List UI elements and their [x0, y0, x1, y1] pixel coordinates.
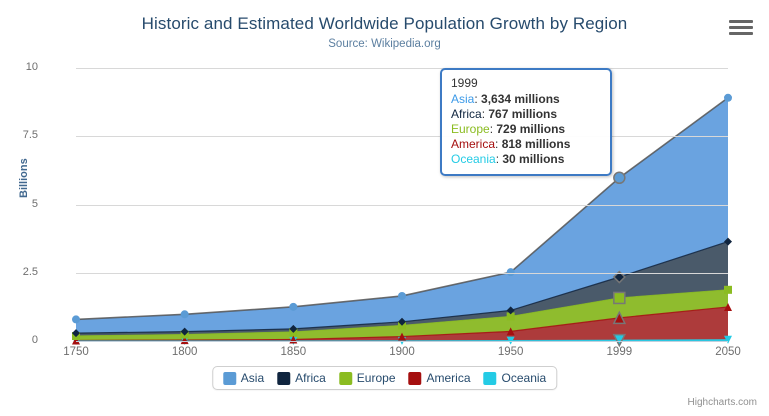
legend-item-asia[interactable]: Asia: [223, 371, 264, 385]
legend-swatch-icon: [484, 372, 497, 385]
chart-title: Historic and Estimated Worldwide Populat…: [0, 14, 769, 34]
tooltip-series-name: Africa: [451, 107, 482, 121]
gridline: [76, 273, 728, 274]
gridline: [76, 68, 728, 69]
tooltip-row: America: 818 millions: [451, 137, 601, 152]
legend-swatch-icon: [277, 372, 290, 385]
legend-label: America: [427, 371, 471, 385]
tooltip-series-name: America: [451, 137, 495, 151]
data-point-asia[interactable]: [289, 303, 297, 311]
data-point-asia[interactable]: [72, 315, 80, 323]
legend-swatch-icon: [223, 372, 236, 385]
chart-subtitle: Source: Wikipedia.org: [0, 38, 769, 50]
y-axis-tick-label: 7.5: [0, 129, 38, 141]
data-point-asia[interactable]: [398, 292, 406, 300]
menu-bar-3: [729, 32, 753, 35]
legend-item-oceania[interactable]: Oceania: [484, 371, 547, 385]
legend-item-europe[interactable]: Europe: [339, 371, 396, 385]
legend-item-africa[interactable]: Africa: [277, 371, 326, 385]
gridline: [76, 136, 728, 137]
tooltip-series-name: Europe: [451, 122, 490, 136]
tooltip-row: Africa: 767 millions: [451, 107, 601, 122]
legend-swatch-icon: [409, 372, 422, 385]
legend: AsiaAfricaEuropeAmericaOceania: [212, 366, 557, 390]
tooltip-row: Oceania: 30 millions: [451, 152, 601, 167]
tooltip: 1999 Asia: 3,634 millionsAfrica: 767 mil…: [440, 68, 612, 176]
x-axis-tick-label: 1999: [607, 346, 633, 358]
tooltip-series-value: 3,634 millions: [481, 92, 560, 106]
y-axis-tick-label: 0: [0, 334, 38, 346]
x-axis-tick-label: 1750: [63, 346, 89, 358]
legend-label: Asia: [241, 371, 264, 385]
data-point-asia[interactable]: [614, 172, 625, 183]
legend-label: Africa: [295, 371, 326, 385]
x-axis-tick-label: 1800: [172, 346, 198, 358]
gridline: [76, 341, 728, 342]
x-axis-tick-label: 1950: [498, 346, 524, 358]
tooltip-header: 1999: [451, 76, 601, 90]
tooltip-series-value: 818 millions: [502, 137, 571, 151]
legend-item-america[interactable]: America: [409, 371, 471, 385]
gridline: [76, 205, 728, 206]
chart-container: Historic and Estimated Worldwide Populat…: [0, 0, 769, 416]
tooltip-series-name: Asia: [451, 92, 474, 106]
data-point-asia[interactable]: [181, 310, 189, 318]
plot-area: [76, 68, 728, 341]
hamburger-menu-icon[interactable]: [729, 16, 753, 38]
data-point-europe[interactable]: [614, 292, 625, 303]
tooltip-series-value: 30 millions: [502, 152, 564, 166]
tooltip-series-value: 729 millions: [496, 122, 565, 136]
legend-swatch-icon: [339, 372, 352, 385]
x-axis-tick-label: 1900: [389, 346, 415, 358]
legend-label: Europe: [357, 371, 396, 385]
data-point-asia[interactable]: [724, 94, 732, 102]
menu-bar-2: [729, 26, 753, 29]
legend-label: Oceania: [502, 371, 547, 385]
tooltip-series-name: Oceania: [451, 152, 496, 166]
y-axis-tick-label: 2.5: [0, 266, 38, 278]
credits-link[interactable]: Highcharts.com: [688, 397, 757, 408]
tooltip-series-value: 767 millions: [488, 107, 557, 121]
data-point-europe[interactable]: [724, 286, 732, 294]
x-axis-tick-label: 1850: [281, 346, 307, 358]
menu-bar-1: [729, 20, 753, 23]
y-axis-title: Billions: [18, 158, 30, 198]
tooltip-row: Europe: 729 millions: [451, 122, 601, 137]
x-axis-tick-label: 2050: [715, 346, 741, 358]
y-axis-tick-label: 5: [0, 198, 38, 210]
y-axis-tick-label: 10: [0, 61, 38, 73]
tooltip-row: Asia: 3,634 millions: [451, 92, 601, 107]
